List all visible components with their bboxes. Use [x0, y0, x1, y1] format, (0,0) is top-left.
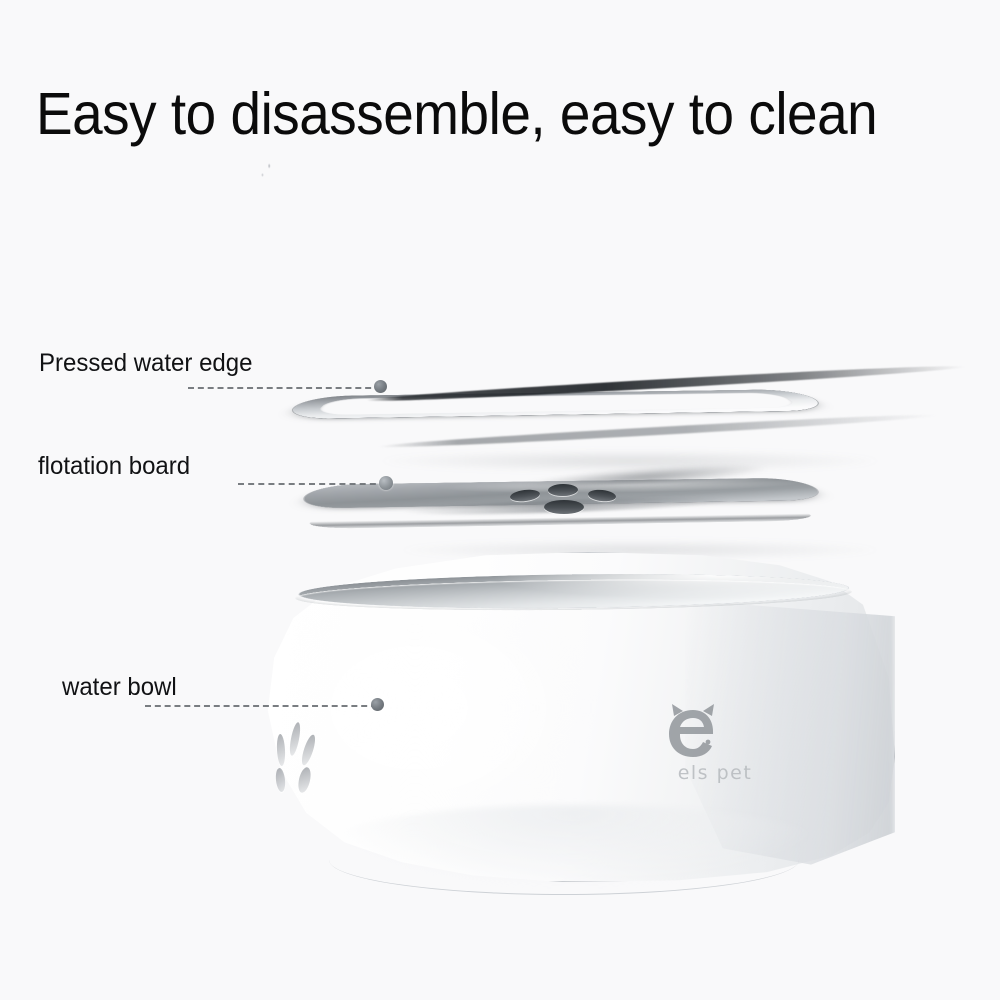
product-infographic: Easy to disassemble, easy to clean	[0, 0, 1000, 1000]
page-title: Easy to disassemble, easy to clean	[36, 82, 920, 146]
scan-artifact	[258, 162, 274, 180]
brand-logo: els pet	[640, 700, 790, 800]
paw-toe-2	[276, 734, 286, 766]
paw-print-emboss-icon	[273, 720, 339, 800]
callout-label-flotation-board: flotation board	[38, 452, 190, 480]
paw-toe-1	[288, 722, 302, 757]
paw-hole-toe-center	[548, 484, 578, 497]
paw-toe-5	[296, 766, 313, 794]
paw-hole-toe-left	[509, 488, 540, 503]
leader-dot-water-bowl	[371, 698, 384, 711]
flotation-board	[310, 448, 820, 540]
brand-name: els pet	[640, 762, 790, 784]
paw-hole-pad	[544, 500, 584, 514]
leader-line-water-bowl	[145, 705, 377, 707]
ring-inner-opening	[314, 392, 802, 415]
water-bowl	[255, 530, 895, 910]
paw-toe-4	[275, 768, 286, 793]
pressed-water-edge-ring	[300, 358, 820, 448]
cat-e-logo-icon	[662, 700, 724, 762]
leader-dot-pressed-water-edge	[374, 380, 387, 393]
leader-line-flotation-board	[238, 483, 386, 485]
paw-hole-toe-right	[588, 489, 617, 503]
paw-toe-3	[299, 733, 317, 766]
paw-print-drain-holes	[508, 478, 638, 518]
leader-line-pressed-water-edge	[188, 387, 381, 389]
leader-dot-flotation-board	[379, 476, 393, 490]
ring-lower-lip-highlight	[378, 411, 938, 450]
callout-label-water-bowl: water bowl	[62, 673, 177, 701]
callout-label-pressed-water-edge: Pressed water edge	[39, 349, 252, 377]
